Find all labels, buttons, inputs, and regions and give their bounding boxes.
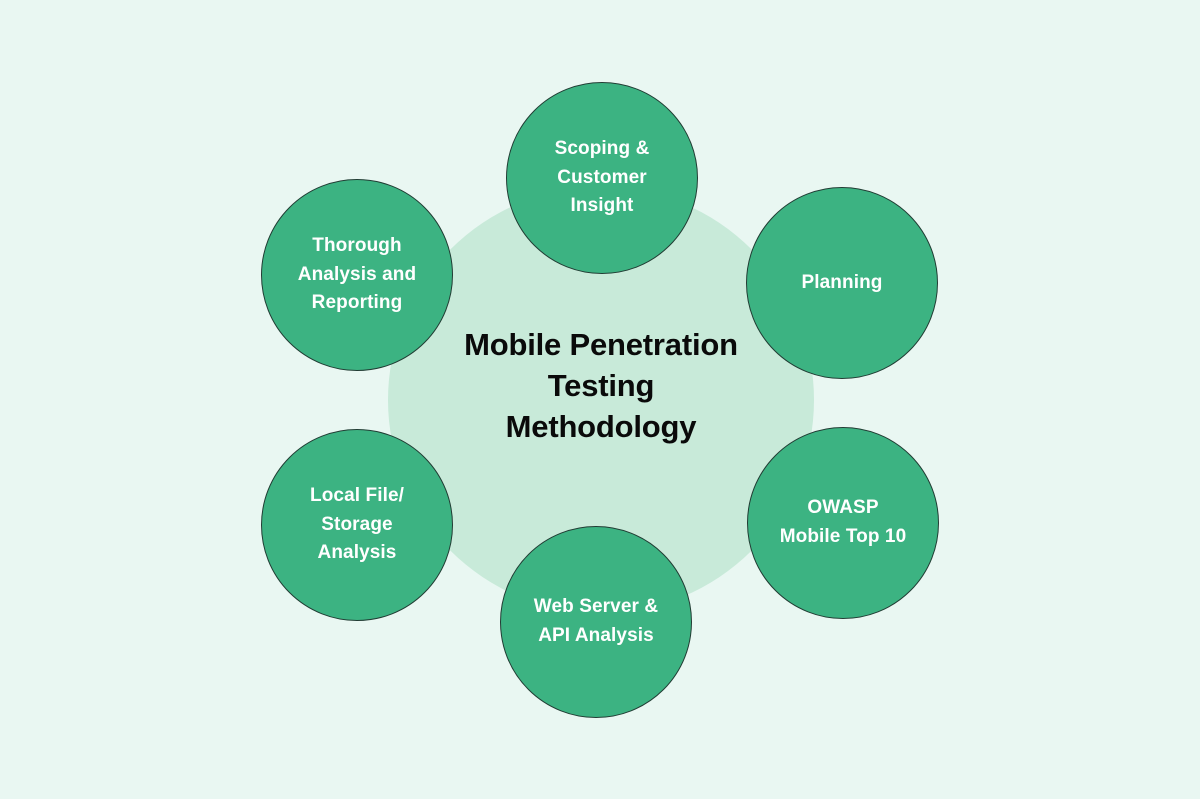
- node-web-server-api-analysis[interactable]: Web Server & API Analysis: [500, 526, 692, 718]
- node-planning[interactable]: Planning: [746, 187, 938, 379]
- node-thorough-analysis-and-reporting[interactable]: Thorough Analysis and Reporting: [261, 179, 453, 371]
- node-label: Scoping & Customer Insight: [555, 135, 650, 222]
- node-scoping-customer-insight[interactable]: Scoping & Customer Insight: [506, 82, 698, 274]
- node-label: Planning: [801, 269, 882, 298]
- diagram-center-title: Mobile Penetration Testing Methodology: [380, 325, 822, 448]
- diagram-canvas: Mobile Penetration Testing Methodology S…: [0, 0, 1200, 799]
- node-label: Local File/ Storage Analysis: [310, 482, 404, 569]
- node-label: Thorough Analysis and Reporting: [298, 232, 416, 319]
- node-label: Web Server & API Analysis: [534, 593, 658, 651]
- node-local-file-storage-analysis[interactable]: Local File/ Storage Analysis: [261, 429, 453, 621]
- node-owasp-mobile-top-10[interactable]: OWASP Mobile Top 10: [747, 427, 939, 619]
- node-label: OWASP Mobile Top 10: [780, 494, 907, 552]
